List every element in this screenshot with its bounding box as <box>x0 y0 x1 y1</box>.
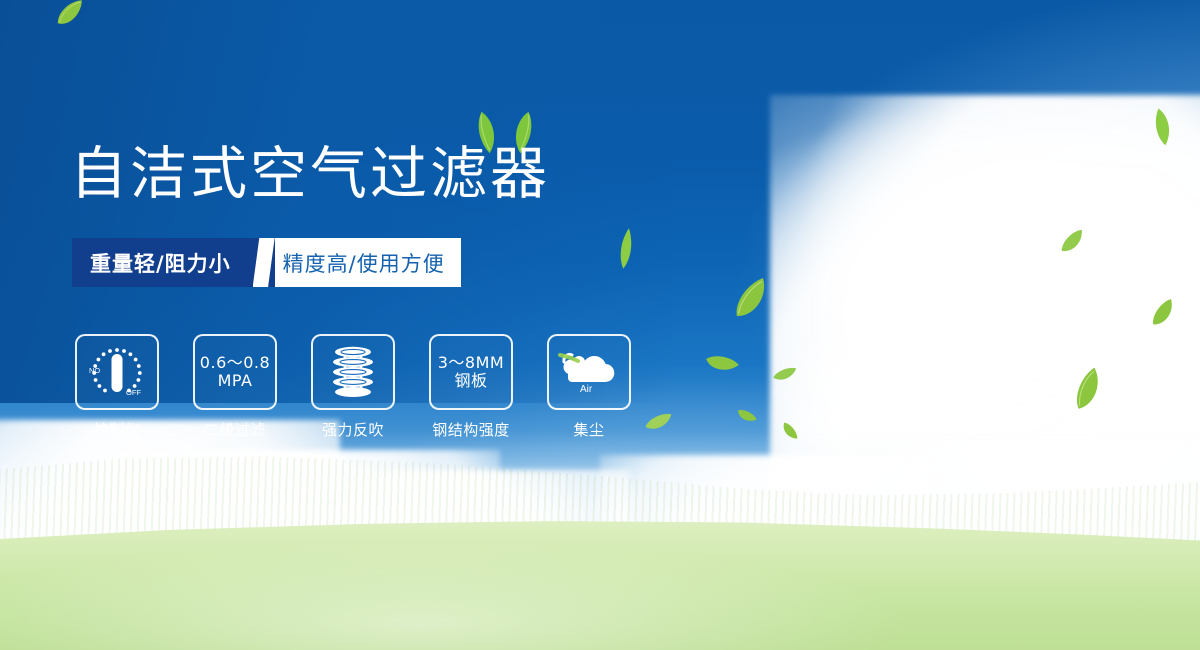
air-cloud-icon: Air <box>558 350 620 394</box>
feature-icon-box <box>311 334 395 410</box>
feature-icon-text-line1: 0.6～0.8 <box>200 354 270 372</box>
feature-item-steel-strength[interactable]: 3～8MM 钢板 钢结构强度 <box>424 334 518 440</box>
product-hero-banner: 自洁式空气过滤器 重量轻/阻力小 精度高/使用方便 <box>0 0 1200 650</box>
feature-list: NO OFF 控制仪 0.6～0.8 MPA 二级过滤 <box>70 334 636 440</box>
dial-label-no: NO <box>89 366 100 375</box>
banner-content: 自洁式空气过滤器 重量轻/阻力小 精度高/使用方便 <box>0 0 1200 650</box>
page-title: 自洁式空气过滤器 <box>70 146 550 203</box>
tagline-secondary: 精度高/使用方便 <box>275 238 461 287</box>
tagline-primary: 重量轻/阻力小 <box>72 238 253 287</box>
tagline-bar: 重量轻/阻力小 精度高/使用方便 <box>72 238 461 287</box>
feature-caption: 控制仪 <box>94 419 141 440</box>
feature-item-two-stage-filtration[interactable]: 0.6～0.8 MPA 二级过滤 <box>188 334 282 440</box>
feature-icon-text-line1: 3～8MM <box>438 354 504 372</box>
feature-caption: 二级过滤 <box>204 419 266 440</box>
dial-gauge-icon: NO OFF <box>86 343 148 401</box>
feature-caption: 钢结构强度 <box>432 419 510 440</box>
feature-icon-text-line2: 钢板 <box>454 372 487 390</box>
tagline-divider-slash <box>253 238 275 287</box>
air-label: Air <box>580 384 593 394</box>
filter-cartridge-icon <box>325 343 381 401</box>
feature-icon-text-line2: MPA <box>218 372 253 390</box>
feature-item-control-panel[interactable]: NO OFF 控制仪 <box>70 334 164 440</box>
feature-icon-box: NO OFF <box>75 334 159 410</box>
feature-item-dust-collection[interactable]: Air 集尘 <box>542 334 636 440</box>
feature-icon-box: 3～8MM 钢板 <box>429 334 513 410</box>
feature-icon-box: 0.6～0.8 MPA <box>193 334 277 410</box>
feature-icon-box: Air <box>547 334 631 410</box>
feature-caption: 集尘 <box>573 419 604 440</box>
feature-caption: 强力反吹 <box>322 419 384 440</box>
dial-label-off: OFF <box>126 388 141 397</box>
feature-item-pulse-blowback[interactable]: 强力反吹 <box>306 334 400 440</box>
